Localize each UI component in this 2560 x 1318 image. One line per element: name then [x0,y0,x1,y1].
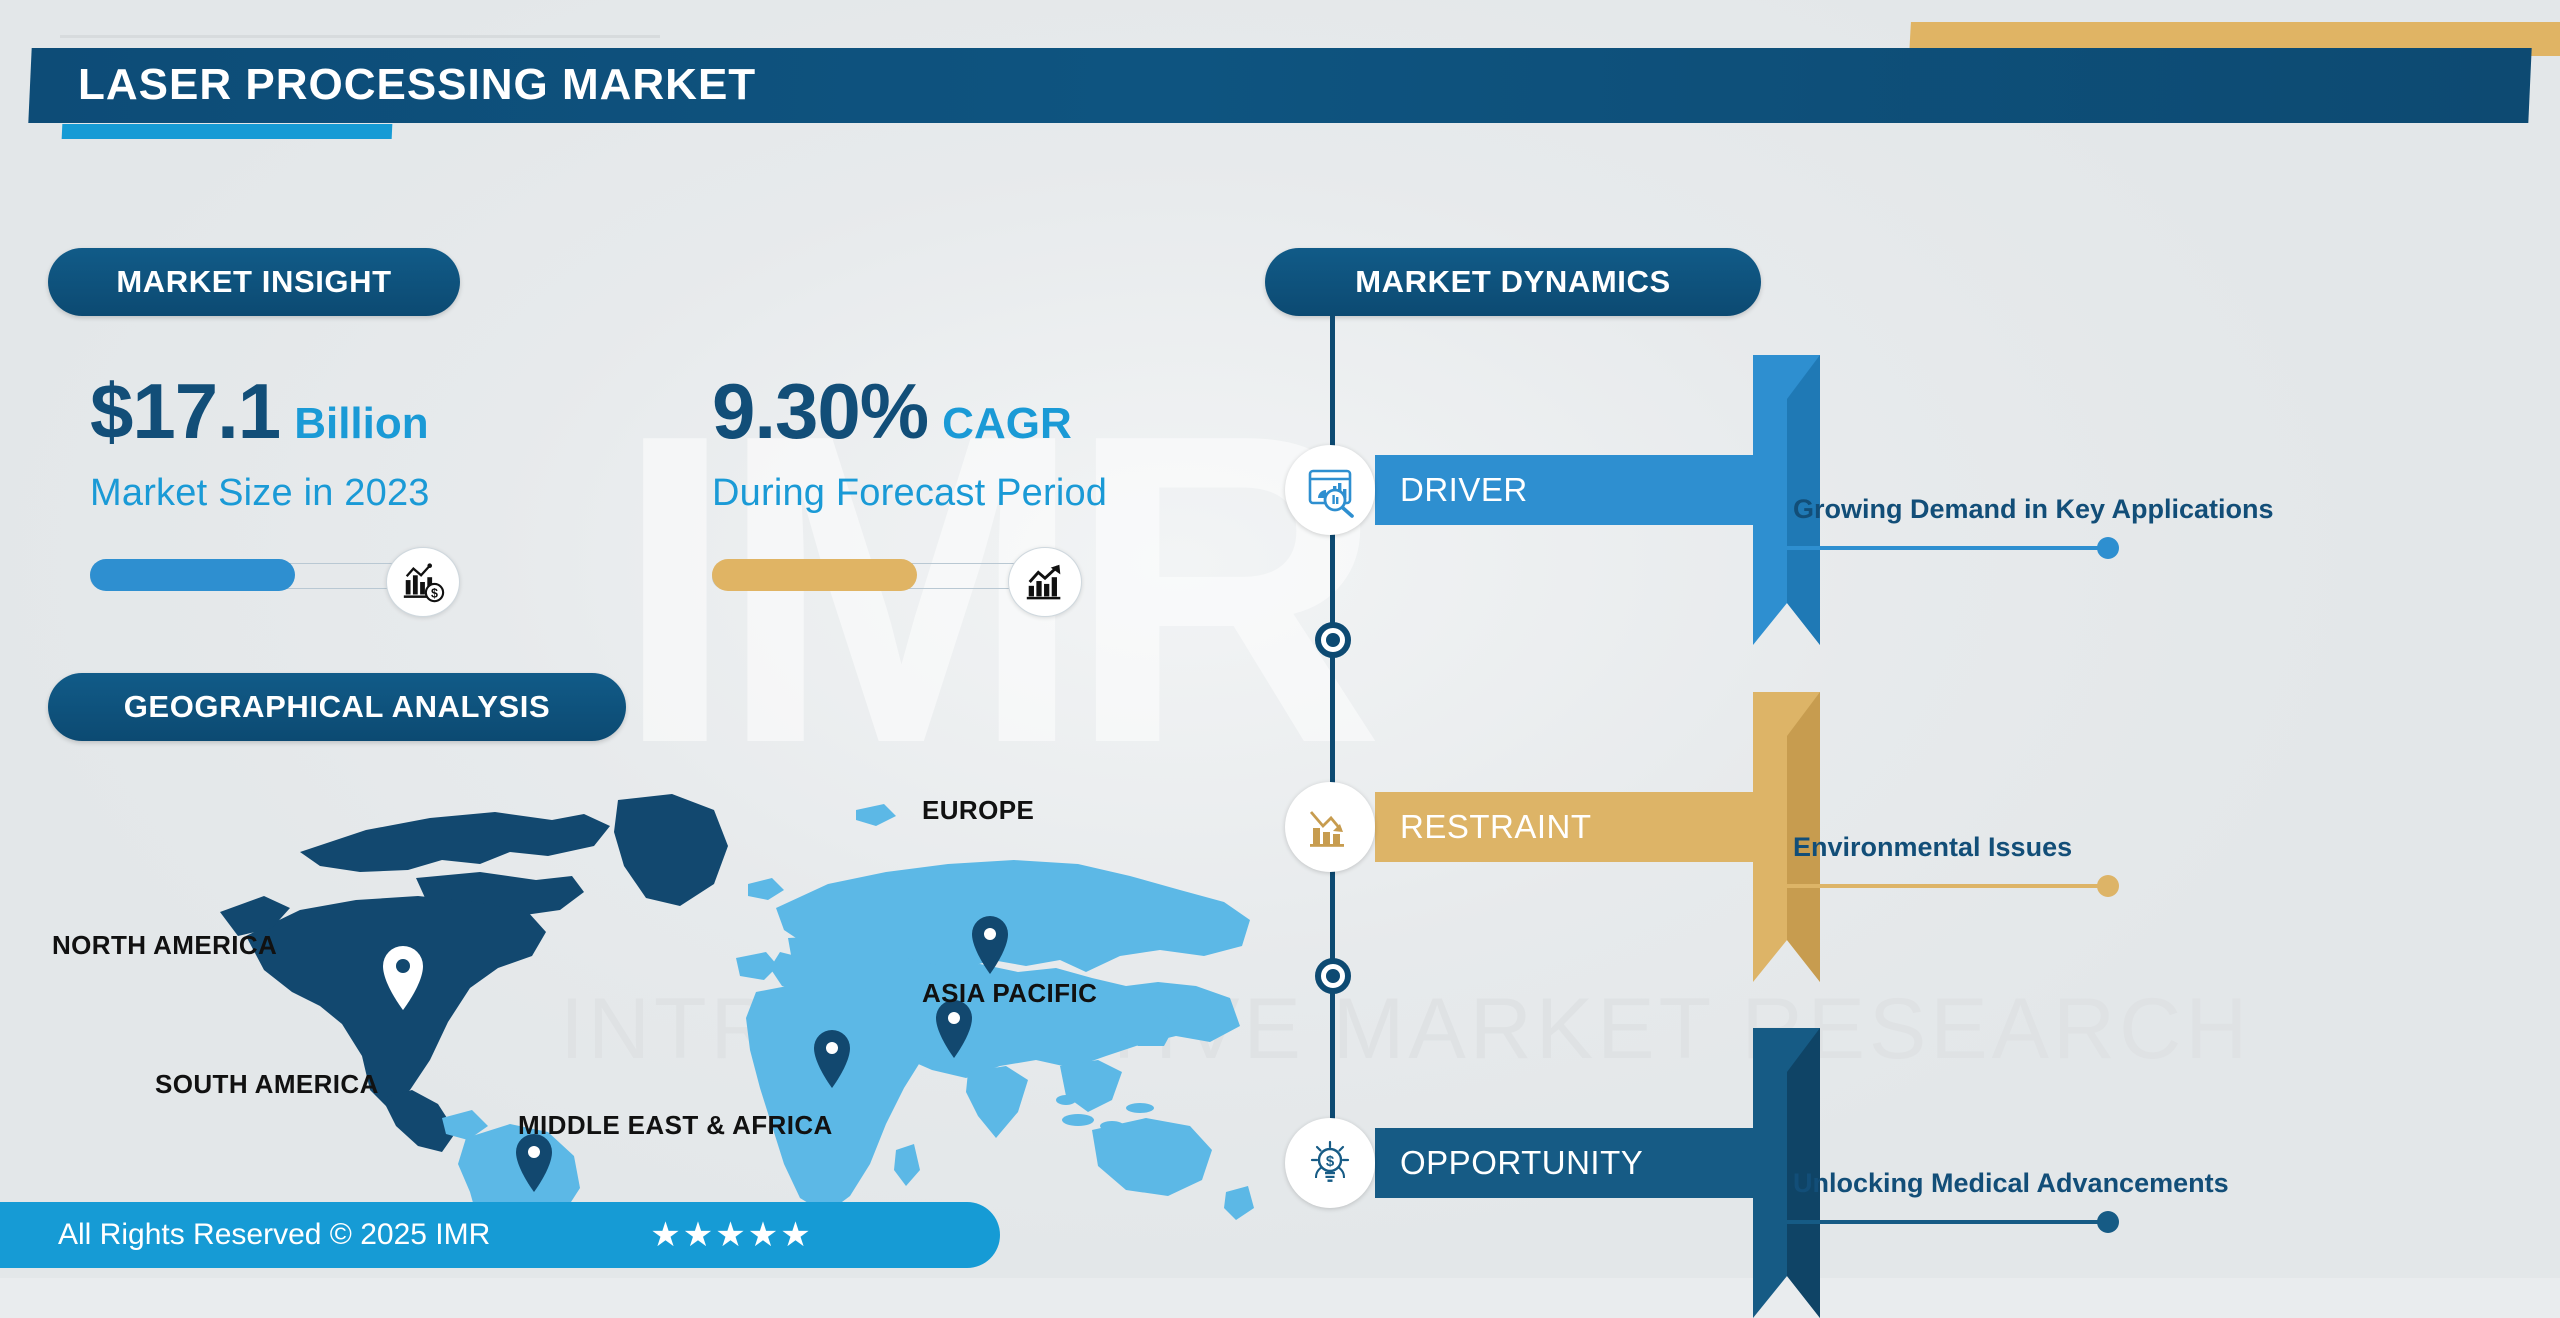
dynamics-description-opportunity: Unlocking Medical Advancements [1793,1168,2229,1199]
dynamics-rule-driver [1771,546,2111,550]
chart-magnifier-icon [1285,445,1375,535]
stat-cagr-caption: During Forecast Period [712,472,1192,515]
dynamics-label-opportunity: OPPORTUNITY [1400,1128,1643,1198]
svg-text:$: $ [431,586,438,600]
growth-arrow-icon [1008,547,1082,617]
stat-market-size: $17.1Billion Market Size in 2023 $ [90,372,530,603]
pill-geographical-analysis: GEOGRAPHICAL ANALYSIS [48,673,626,741]
map-region-australia [1092,1118,1254,1220]
header-underline-accent [62,124,393,139]
stat-market-size-unit: Billion [294,402,428,446]
pill-market-insight: MARKET INSIGHT [48,248,460,316]
dynamics-dot-opportunity [2097,1211,2119,1233]
star-rating: ★★★★★ [650,1215,812,1255]
header-hairline [60,35,660,38]
dynamics-rule-opportunity [1771,1220,2111,1224]
geo-label-asia-pacific: ASIA PACIFIC [922,978,1097,1009]
dynamics-label-driver: DRIVER [1400,455,1528,525]
progress-fill [90,559,295,591]
dynamics-description-driver: Growing Demand in Key Applications [1793,494,2274,525]
pill-market-dynamics: MARKET DYNAMICS [1265,248,1761,316]
map-region-svalbard [856,804,896,826]
pill-geographical-analysis-label: GEOGRAPHICAL ANALYSIS [124,689,551,725]
infographic-canvas: IMR INTROSPECTIVE MARKET RESEARCH LASER … [0,0,2560,1278]
dynamics-dot-restraint [2097,875,2119,897]
dynamics-rule-restraint [1771,884,2111,888]
progress-fill [712,559,917,591]
stat-cagr-value: 9.30% [712,372,928,450]
lightbulb-dollar-icon: $ [1285,1118,1375,1208]
stat-market-size-caption: Market Size in 2023 [90,472,530,515]
stat-market-size-value: $17.1 [90,372,280,450]
dynamics-description-restraint: Environmental Issues [1793,832,2072,863]
footer-bar: All Rights Reserved © 2025 IMR ★★★★★ [0,1202,1000,1268]
stat-market-size-progress: $ [90,547,530,603]
svg-text:$: $ [1326,1153,1335,1170]
stat-cagr-progress [712,547,1192,603]
world-map [180,760,1260,1260]
pill-market-dynamics-label: MARKET DYNAMICS [1355,264,1671,300]
pill-market-insight-label: MARKET INSIGHT [116,264,391,300]
page-title: LASER PROCESSING MARKET [78,54,756,116]
dynamics-label-restraint: RESTRAINT [1400,792,1592,862]
declining-chart-icon [1285,782,1375,872]
stat-cagr-unit: CAGR [942,402,1072,446]
geo-label-europe: EUROPE [922,795,1034,826]
stat-cagr: 9.30%CAGR During Forecast Period [712,372,1192,603]
geo-label-north-america: NORTH AMERICA [52,930,277,961]
geo-label-south-america: SOUTH AMERICA [155,1069,379,1100]
copyright-text: All Rights Reserved © 2025 IMR [58,1218,490,1252]
map-region-iceland [748,878,784,900]
geo-label-middle-east-africa: MIDDLE EAST & AFRICA [518,1110,833,1141]
dynamics-dot-driver [2097,537,2119,559]
bar-chart-dollar-icon: $ [386,547,460,617]
